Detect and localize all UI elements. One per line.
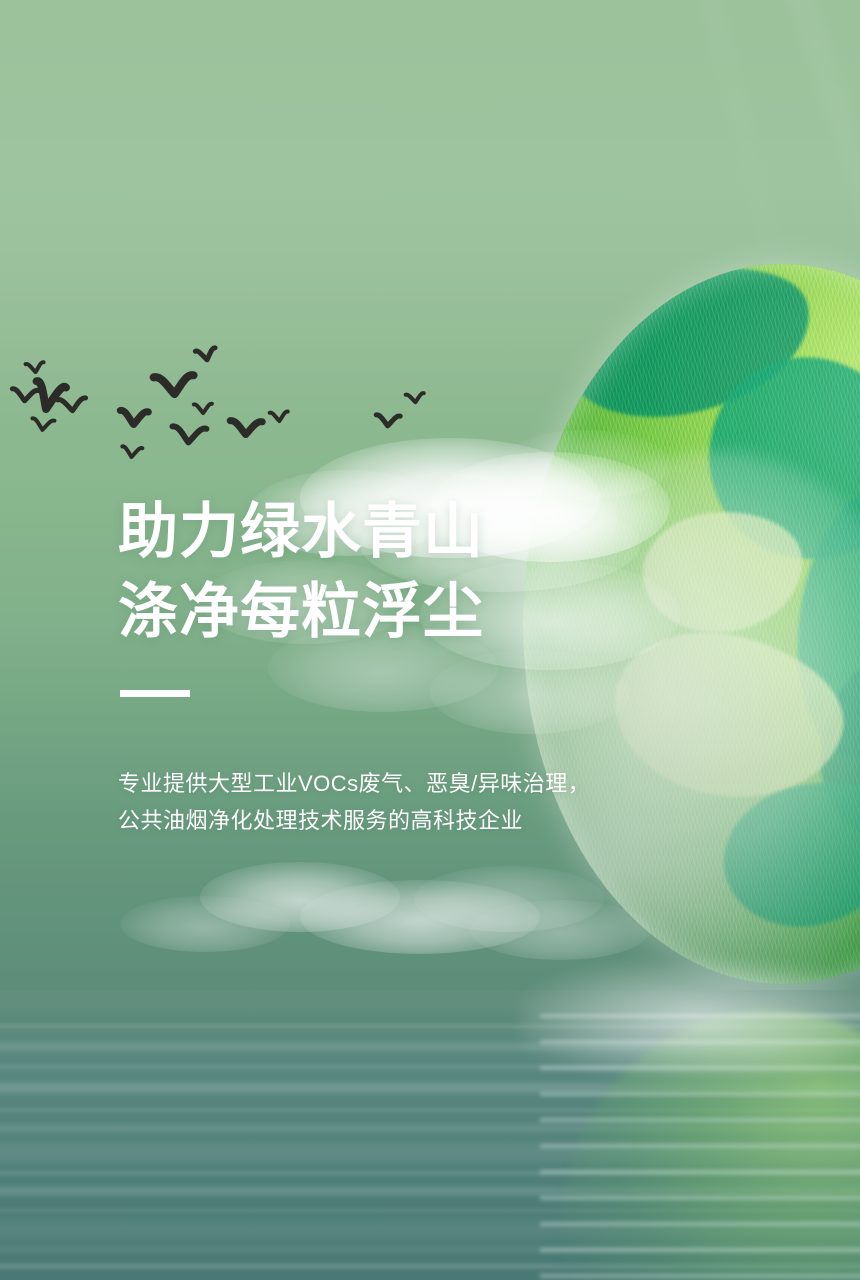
text-content: 助力绿水青山 涤净每粒浮尘 专业提供大型工业VOCs废气、恶臭/异味治理， 公共… [0, 0, 860, 1280]
headline: 助力绿水青山 涤净每粒浮尘 [118, 492, 484, 652]
subtitle: 专业提供大型工业VOCs废气、恶臭/异味治理， 公共油烟净化处理技术服务的高科技… [118, 765, 590, 839]
headline-divider [120, 690, 190, 697]
headline-line-1: 助力绿水青山 [118, 492, 484, 572]
subtitle-line-1: 专业提供大型工业VOCs废气、恶臭/异味治理， [118, 765, 590, 802]
eco-banner-poster: 助力绿水青山 涤净每粒浮尘 专业提供大型工业VOCs废气、恶臭/异味治理， 公共… [0, 0, 860, 1280]
headline-line-2: 涤净每粒浮尘 [118, 572, 484, 652]
subtitle-line-2: 公共油烟净化处理技术服务的高科技企业 [118, 802, 590, 839]
